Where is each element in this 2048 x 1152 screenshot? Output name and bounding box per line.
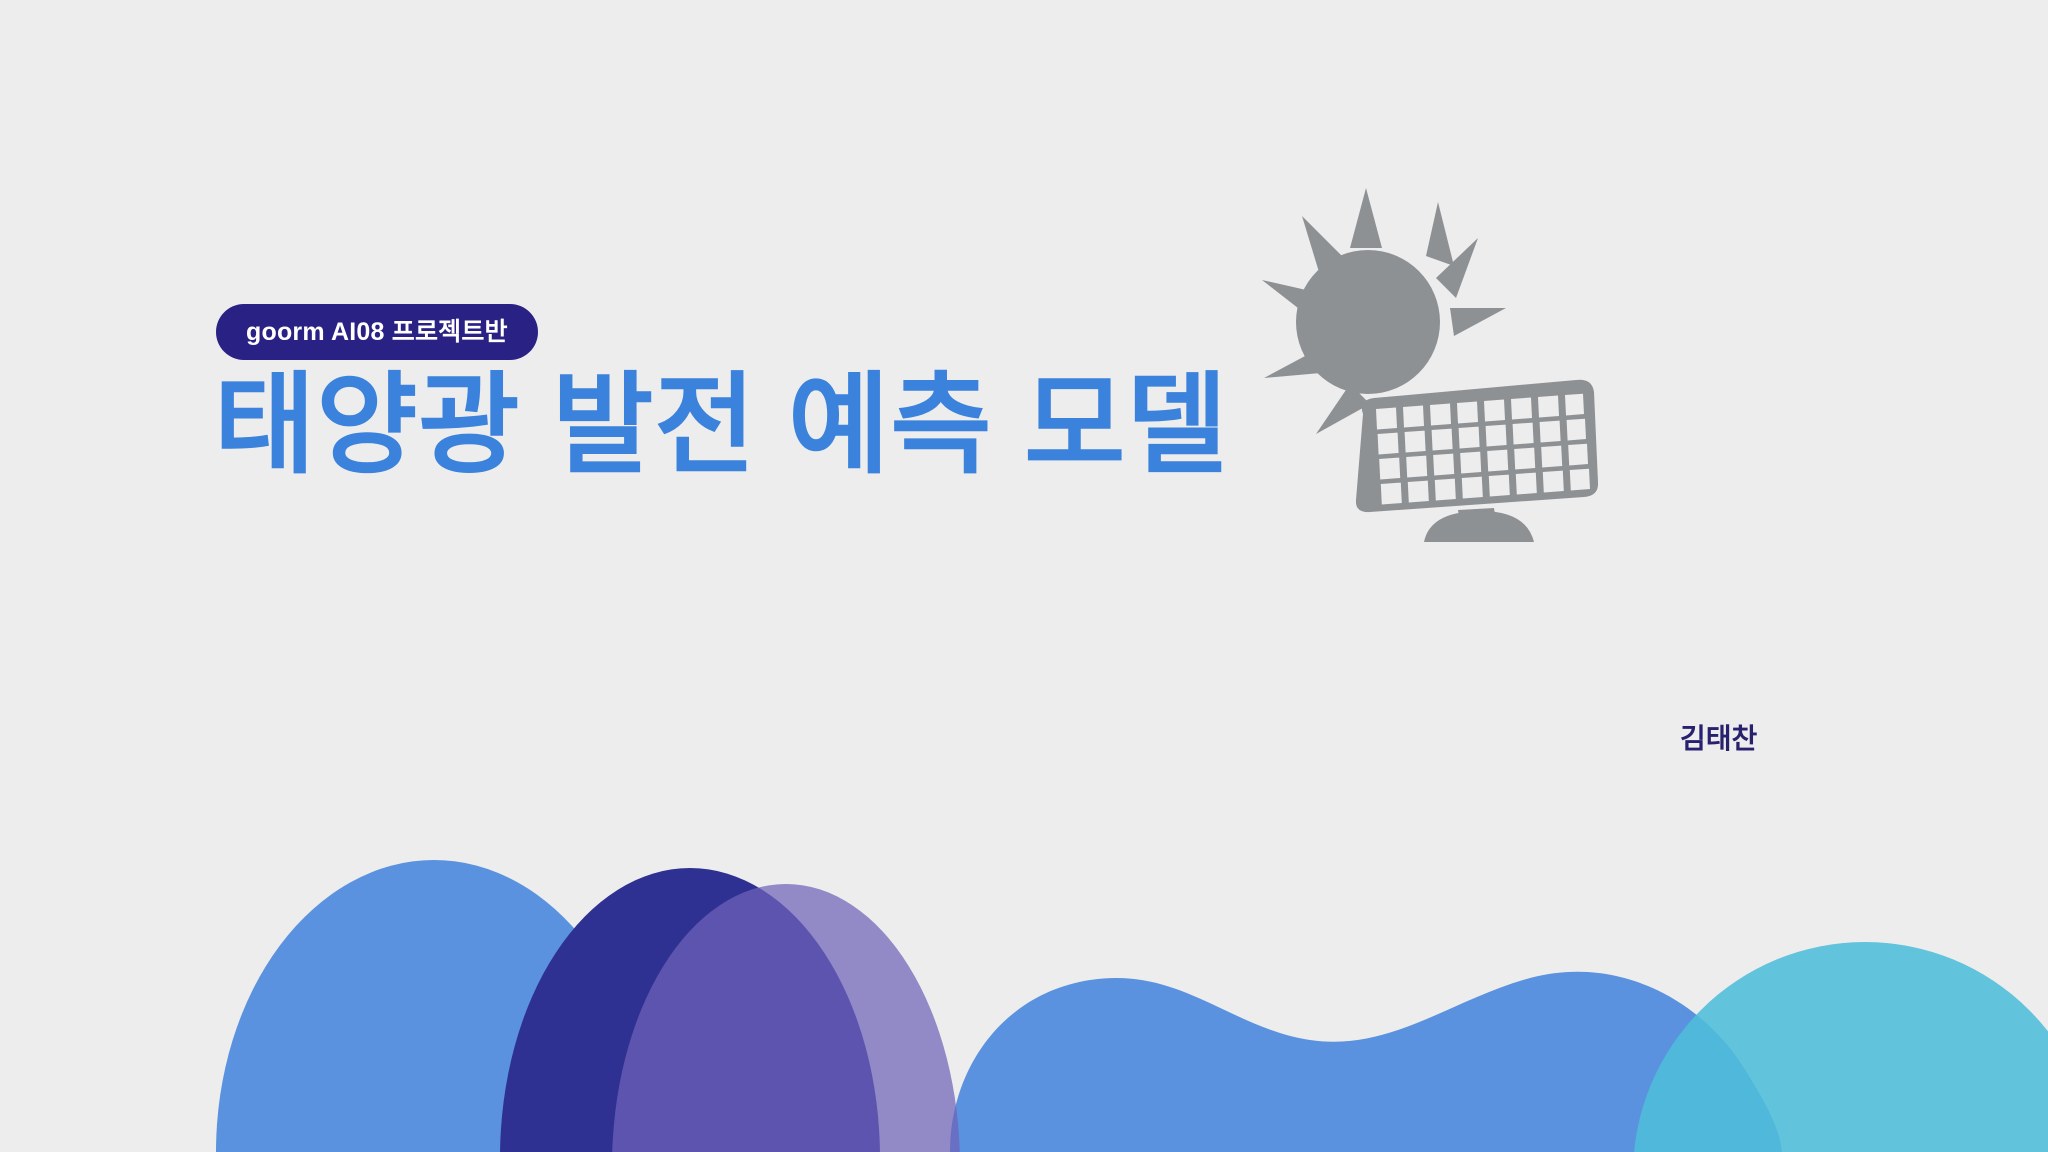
author-name: 김태찬	[1680, 725, 1757, 753]
sun-disc-icon	[1296, 250, 1440, 394]
course-badge-label: goorm AI08 프로젝트반	[246, 320, 508, 345]
course-badge: goorm AI08 프로젝트반	[216, 304, 538, 360]
blob-navy-center	[500, 868, 880, 1152]
panel-base-icon	[1424, 511, 1534, 542]
page-title: 태양광 발전 예측 모델	[214, 357, 1228, 495]
bottom-blob-decoration	[0, 822, 2048, 1152]
blob-purple-overlay	[612, 884, 960, 1152]
blob-teal-right	[1633, 942, 2048, 1152]
solar-panel-icon	[1258, 182, 1598, 542]
solar-panel-body-icon	[1356, 380, 1598, 542]
blob-blue-wave-right	[950, 972, 1782, 1152]
blob-blue-left	[216, 860, 652, 1152]
title-slide: goorm AI08 프로젝트반 태양광 발전 예측 모델 김태찬	[0, 0, 2048, 1152]
